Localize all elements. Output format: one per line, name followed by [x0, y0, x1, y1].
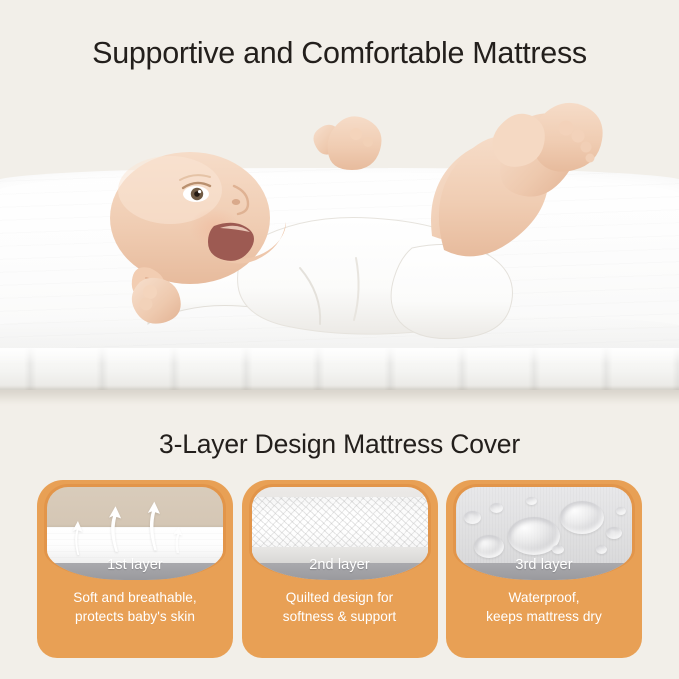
caption-line-2: keeps mattress dry: [454, 607, 634, 626]
card-caption-1: Soft and breathable, protects baby's ski…: [45, 588, 225, 626]
caption-line-2: protects baby's skin: [45, 607, 225, 626]
feature-card-list: 1st layer Soft and breathable, protects …: [37, 480, 642, 658]
airflow-arrow-icon: [109, 503, 122, 555]
feature-card-2nd-layer[interactable]: 2nd layer Quilted design for softness & …: [242, 480, 438, 658]
airflow-arrow-icon: [147, 497, 160, 555]
section-title: 3-Layer Design Mattress Cover: [0, 429, 679, 460]
mattress-quilted-edge: [0, 348, 679, 390]
card-caption-2: Quilted design for softness & support: [250, 588, 430, 626]
features-section: 3-Layer Design Mattress Cover: [0, 415, 679, 679]
feature-card-1st-layer[interactable]: 1st layer Soft and breathable, protects …: [37, 480, 233, 658]
caption-line-1: Quilted design for: [250, 588, 430, 607]
layer-label-2: 2nd layer: [249, 550, 431, 580]
page-title: Supportive and Comfortable Mattress: [0, 36, 679, 71]
mattress-drop-shadow: [0, 388, 679, 404]
feature-card-3rd-layer[interactable]: 3rd layer Waterproof, keeps mattress dry: [446, 480, 642, 658]
mattress-illustration: [0, 168, 679, 398]
mattress-top-surface: [0, 168, 679, 360]
layer-label-3: 3rd layer: [453, 550, 635, 580]
hero-section: Supportive and Comfortable Mattress: [0, 0, 679, 415]
caption-line-1: Waterproof,: [454, 588, 634, 607]
product-infographic: Supportive and Comfortable Mattress: [0, 0, 679, 679]
card-caption-3: Waterproof, keeps mattress dry: [454, 588, 634, 626]
caption-line-1: Soft and breathable,: [45, 588, 225, 607]
caption-line-2: softness & support: [250, 607, 430, 626]
layer-label-1: 1st layer: [44, 550, 226, 580]
